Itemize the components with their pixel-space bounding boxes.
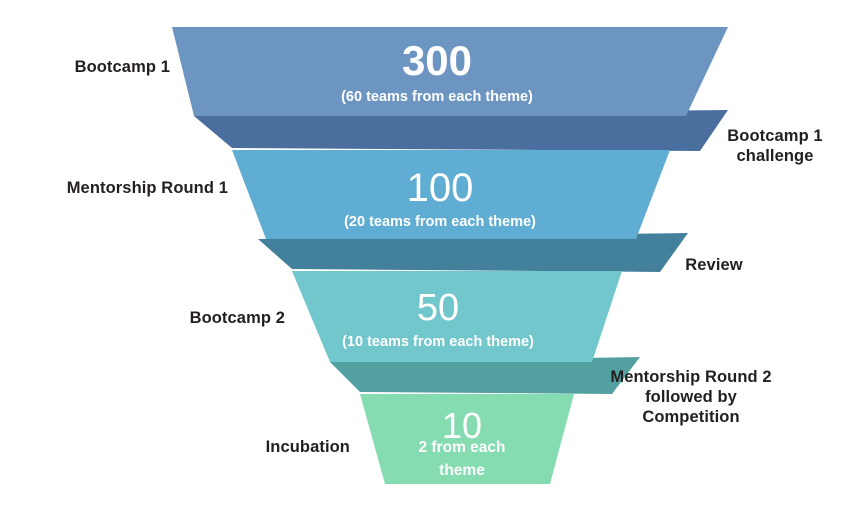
connector-shape-bootcamp-1-challenge	[194, 110, 728, 151]
stage-subtext-bootcamp-2: (10 teams from each theme)	[342, 334, 534, 350]
connector-label-review: Review	[648, 255, 780, 275]
stage-subtext-incubation-line-2: theme	[439, 462, 485, 479]
stage-label-incubation: Incubation	[80, 437, 350, 457]
stage-subtext-incubation-line-1: 2 from each	[418, 439, 505, 456]
stage-subtext-bootcamp-1: (60 teams from each theme)	[341, 89, 533, 105]
connector-label-mentorship-round-2: Mentorship Round 2 followed by Competiti…	[570, 367, 812, 427]
stage-value-bootcamp-1: 300	[402, 37, 472, 84]
stage-label-bootcamp-2: Bootcamp 2	[40, 308, 285, 328]
funnel-diagram: 300 (60 teams from each theme) 100 (20 t…	[0, 0, 864, 506]
connector-label-bootcamp-1-challenge: Bootcamp 1 challenge	[690, 126, 860, 166]
stage-value-mentorship-round-1: 100	[407, 166, 474, 210]
stage-value-bootcamp-2: 50	[417, 287, 459, 329]
stage-label-mentorship-round-1: Mentorship Round 1	[0, 178, 228, 198]
stage-label-bootcamp-1: Bootcamp 1	[10, 57, 170, 77]
stage-subtext-mentorship-round-1: (20 teams from each theme)	[344, 214, 536, 230]
